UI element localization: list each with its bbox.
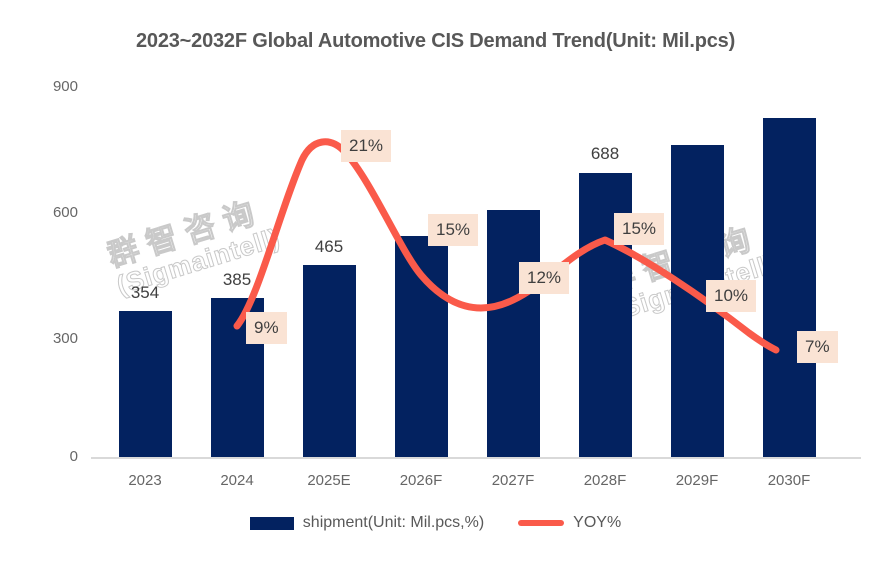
pct-label-2024: 9% — [246, 312, 287, 344]
x-axis-tick-2030F: 2030F — [743, 472, 835, 489]
x-axis-tick-2029F: 2029F — [651, 472, 743, 489]
x-axis-baseline — [91, 457, 861, 459]
chart-container: 2023~2032F Global Automotive CIS Demand … — [0, 0, 871, 568]
chart-legend: shipment(Unit: Mil.pcs,%) YOY% — [0, 514, 871, 532]
legend-line-swatch-icon — [518, 520, 564, 526]
legend-label-shipment: shipment(Unit: Mil.pcs,%) — [303, 514, 484, 532]
plot-area: 900 600 300 0 群智咨询 (Sigmaintell) 群智咨询 (S… — [0, 0, 871, 568]
bar-label-2024: 385 — [191, 270, 283, 290]
y-axis-tick-900: 900 — [28, 78, 78, 95]
bar-label-2028F: 688 — [559, 144, 651, 164]
legend-bar-swatch-icon — [250, 517, 294, 530]
watermark-cn-text: 群智咨询 — [101, 183, 276, 275]
x-axis-tick-2025E: 2025E — [283, 472, 375, 489]
bar-2023[interactable] — [119, 311, 172, 457]
legend-label-yoy: YOY% — [573, 514, 621, 532]
bar-2027F[interactable] — [487, 210, 540, 457]
pct-label-2028F: 15% — [614, 213, 664, 245]
pct-label-2027F: 12% — [519, 262, 569, 294]
legend-item-yoy[interactable]: YOY% — [518, 514, 621, 532]
bar-label-2023: 354 — [99, 283, 191, 303]
bar-2025E[interactable] — [303, 265, 356, 457]
y-axis-tick-600: 600 — [28, 204, 78, 221]
bar-label-2025E: 465 — [283, 237, 375, 257]
y-axis-tick-300: 300 — [28, 330, 78, 347]
pct-label-2025E: 21% — [341, 130, 391, 162]
x-axis-tick-2027F: 2027F — [467, 472, 559, 489]
x-axis-tick-2024: 2024 — [191, 472, 283, 489]
pct-label-2026F: 15% — [428, 214, 478, 246]
x-axis-tick-2026F: 2026F — [375, 472, 467, 489]
x-axis-tick-2023: 2023 — [99, 472, 191, 489]
bar-2030F[interactable] — [763, 118, 816, 457]
bar-2026F[interactable] — [395, 236, 448, 457]
y-axis-tick-0: 0 — [28, 448, 78, 465]
legend-item-shipment[interactable]: shipment(Unit: Mil.pcs,%) — [250, 514, 484, 532]
x-axis-tick-2028F: 2028F — [559, 472, 651, 489]
pct-label-2030F: 7% — [797, 331, 838, 363]
pct-label-2029F: 10% — [706, 280, 756, 312]
